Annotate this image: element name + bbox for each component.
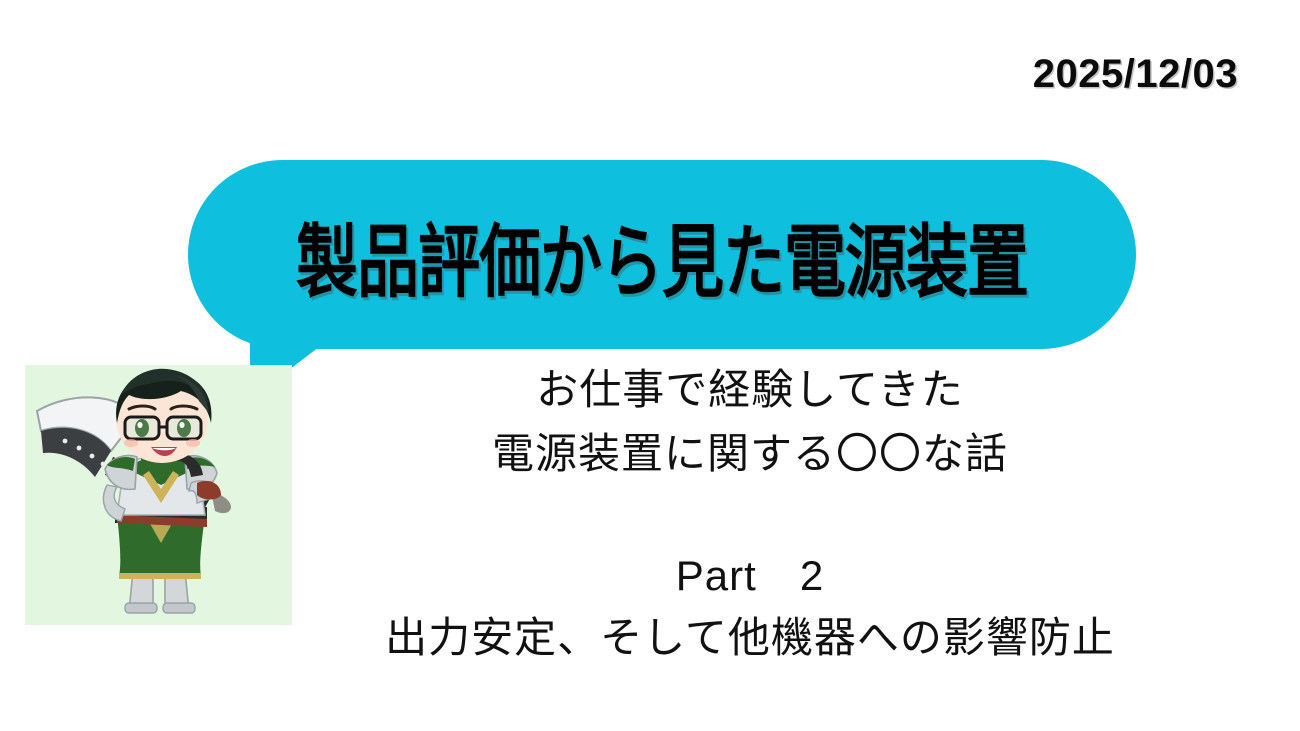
chibi-knight-avatar-icon bbox=[25, 365, 292, 625]
part-topic-label: 出力安定、そして他機器への影響防止 bbox=[300, 607, 1200, 669]
slide-date: 2025/12/03 bbox=[1033, 52, 1238, 97]
subtitle-block: お仕事で経験してきた 電源装置に関する〇〇な話 bbox=[300, 358, 1200, 486]
part-number-label: Part 2 bbox=[300, 545, 1200, 607]
part-block: Part 2 出力安定、そして他機器への影響防止 bbox=[300, 545, 1200, 669]
subtitle-line-1: お仕事で経験してきた bbox=[300, 358, 1200, 422]
slide-title: 製品評価から見た電源装置 bbox=[188, 134, 1136, 376]
avatar-panel bbox=[25, 365, 292, 625]
subtitle-line-2: 電源装置に関する〇〇な話 bbox=[300, 422, 1200, 486]
title-speech-bubble: 製品評価から見た電源装置 bbox=[188, 160, 1136, 349]
